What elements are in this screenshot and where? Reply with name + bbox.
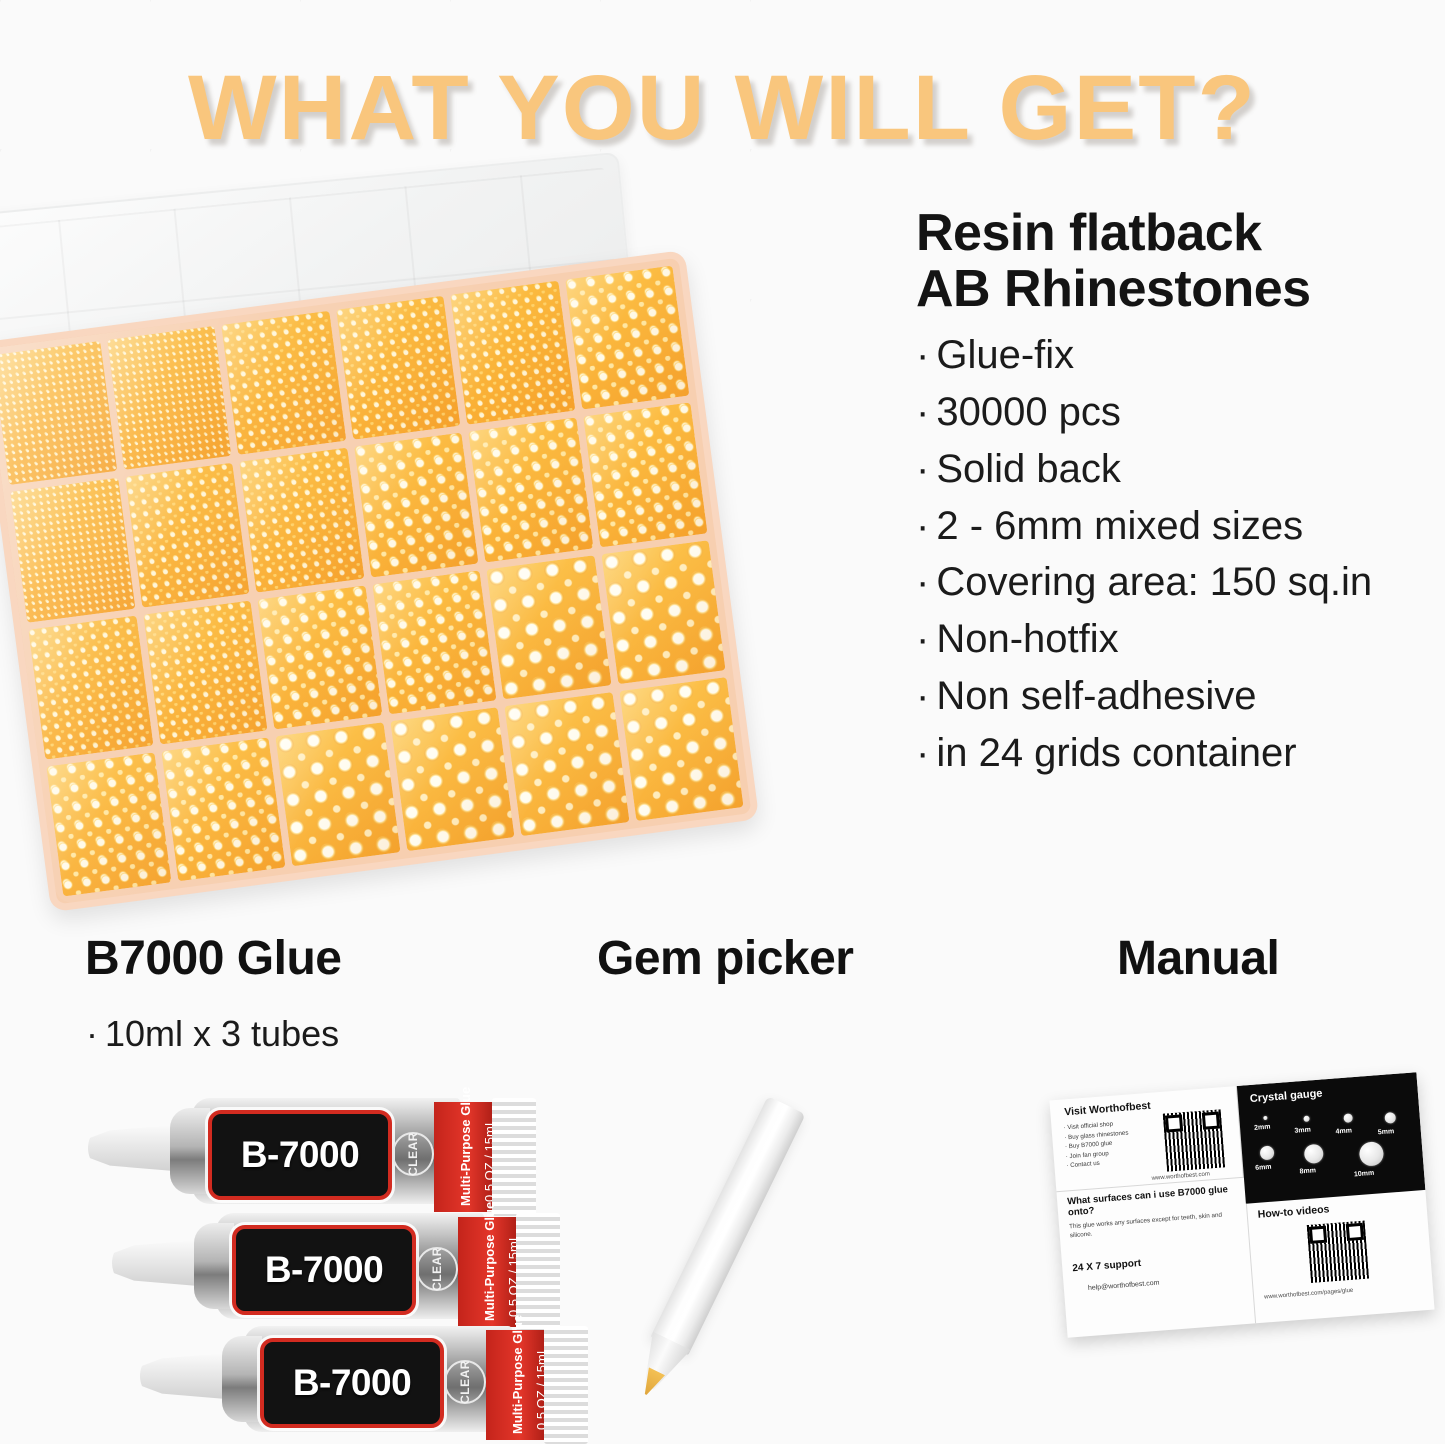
tube-clear-badge: CLEAR xyxy=(444,1360,486,1404)
list-item: ·Covering area: 150 sq.in xyxy=(916,554,1436,611)
bullet-marker: · xyxy=(916,611,929,668)
compartment xyxy=(583,403,708,547)
tube-crimp xyxy=(516,1213,560,1331)
support-title: 24 X 7 support xyxy=(1072,1258,1142,1274)
compartment xyxy=(468,418,593,562)
tube-body: B-7000 CLEAR Multi-Purpose Glue 0.5 OZ /… xyxy=(216,1213,484,1319)
bullet-marker: · xyxy=(916,441,929,498)
glue-tube: B-7000 CLEAR Multi-Purpose Glue 0.5 OZ /… xyxy=(140,1320,540,1438)
product-feature-list: ·Glue-fix ·30000 pcs ·Solid back ·2 - 6m… xyxy=(916,327,1436,781)
tube-crimp xyxy=(492,1098,536,1216)
compartment xyxy=(372,570,497,714)
list-item-label: Non-hotfix xyxy=(936,617,1118,661)
tube-red-strip: Multi-Purpose Glue 0.5 OZ / 15mL xyxy=(486,1330,548,1440)
compartment xyxy=(239,448,364,592)
tube-clear-badge: CLEAR xyxy=(392,1132,434,1176)
product-heading-line1: Resin flatback xyxy=(916,204,1262,262)
pencil-barrel xyxy=(650,1096,805,1355)
glue-quantity-label: 10ml x 3 tubes xyxy=(105,1013,339,1054)
visit-item-label: Join fan group xyxy=(1069,1150,1109,1160)
compartment xyxy=(619,677,744,821)
gauge-label-8mm: 8mm xyxy=(1299,1167,1316,1175)
product-heading-line2: AB Rhinestones xyxy=(916,260,1311,318)
compartment xyxy=(125,463,250,607)
list-item: ·30000 pcs xyxy=(916,384,1436,441)
gem-5mm xyxy=(1384,1112,1396,1124)
gem-2mm xyxy=(1263,1116,1267,1120)
list-item-label: in 24 grids container xyxy=(936,731,1296,775)
list-item-label: 30000 pcs xyxy=(936,390,1121,434)
gem-picker-image xyxy=(640,1080,940,1410)
crystal-gauge-quadrant: Crystal gauge 2mm 3mm 4mm 5mm 6mm 8mm 10… xyxy=(1237,1072,1426,1203)
compartment xyxy=(450,281,575,425)
list-item: ·2 - 6mm mixed sizes xyxy=(916,498,1436,555)
tube-brand-text: B-7000 xyxy=(293,1362,411,1404)
tube-type-text: Multi-Purpose Glue xyxy=(510,1315,525,1434)
compartment xyxy=(601,540,726,684)
tube-crimp xyxy=(544,1326,588,1444)
compartment xyxy=(275,722,400,866)
howto-url: www.worthofbest.com/pages/glue xyxy=(1264,1288,1354,1301)
gauge-label-10mm: 10mm xyxy=(1354,1170,1375,1179)
glue-tube: B-7000 CLEAR Multi-Purpose Glue 0.5 OZ /… xyxy=(112,1207,512,1325)
tube-body: B-7000 CLEAR Multi-Purpose Glue 0.5 OZ /… xyxy=(192,1098,460,1204)
tube-type-text: Multi-Purpose Glue xyxy=(458,1087,473,1206)
compartment xyxy=(390,707,515,851)
gauge-title: Crystal gauge xyxy=(1249,1088,1322,1106)
tube-brand-label: B-7000 xyxy=(260,1338,444,1428)
bullet-marker: · xyxy=(916,554,929,611)
page-title: WHAT YOU WILL GET? xyxy=(0,62,1445,154)
gauge-label-6mm: 6mm xyxy=(1255,1164,1272,1172)
glue-quantity-line: ·10ml x 3 tubes xyxy=(86,1013,339,1055)
manual-visit-quadrant: Visit Worthofbest · Visit official shop … xyxy=(1049,1086,1244,1192)
gem-4mm xyxy=(1343,1113,1353,1123)
list-item: ·Non self-adhesive xyxy=(916,668,1436,725)
bullet-marker: · xyxy=(916,384,929,441)
compartment xyxy=(107,326,232,470)
visit-item-label: Contact us xyxy=(1070,1160,1100,1169)
tube-clear-text: CLEAR xyxy=(458,1360,472,1404)
compartment xyxy=(486,555,611,699)
compartment xyxy=(221,311,346,455)
gem-3mm xyxy=(1303,1116,1309,1122)
gem-6mm xyxy=(1260,1145,1275,1160)
product-heading: Resin flatback AB Rhinestones xyxy=(916,206,1436,317)
compartment xyxy=(354,433,479,577)
tube-brand-label: B-7000 xyxy=(232,1225,416,1315)
manual-card: Visit Worthofbest · Visit official shop … xyxy=(1049,1072,1434,1338)
support-email: help@worthofbest.com xyxy=(1088,1280,1160,1292)
manual-howto-quadrant: How-to videos www.worthofbest.com/pages/… xyxy=(1246,1190,1435,1323)
manual-faq-quadrant: What surfaces can i use B7000 glue onto?… xyxy=(1056,1178,1255,1338)
gauge-label-2mm: 2mm xyxy=(1254,1124,1271,1132)
list-item: ·Solid back xyxy=(916,441,1436,498)
compartment xyxy=(46,752,171,896)
compartment xyxy=(504,692,629,836)
list-item-label: Glue-fix xyxy=(936,333,1074,377)
compartment xyxy=(257,585,382,729)
visit-title: Visit Worthofbest xyxy=(1064,1100,1151,1119)
compartment xyxy=(28,615,153,759)
gem-8mm xyxy=(1304,1144,1324,1164)
visit-qr-code[interactable] xyxy=(1163,1109,1225,1171)
tube-clear-text: CLEAR xyxy=(430,1247,444,1291)
list-item-label: Non self-adhesive xyxy=(936,674,1256,718)
gem-10mm xyxy=(1359,1141,1385,1167)
compartment xyxy=(161,737,286,881)
bullet-marker: · xyxy=(916,668,929,725)
compartment xyxy=(0,341,117,485)
gem-picker-pencil xyxy=(636,1096,805,1384)
section-heading-gem-picker: Gem picker xyxy=(597,931,853,986)
tube-brand-text: B-7000 xyxy=(241,1134,359,1176)
gauge-label-3mm: 3mm xyxy=(1294,1127,1311,1135)
howto-title: How-to videos xyxy=(1257,1203,1329,1220)
compartment xyxy=(565,266,690,410)
list-item-label: 2 - 6mm mixed sizes xyxy=(936,504,1303,548)
glue-tube: B-7000 CLEAR Multi-Purpose Glue 0.5 OZ /… xyxy=(88,1092,488,1210)
tube-type-text: Multi-Purpose Glue xyxy=(482,1202,497,1321)
section-heading-glue: B7000 Glue xyxy=(85,931,341,986)
tube-body: B-7000 CLEAR Multi-Purpose Glue 0.5 OZ /… xyxy=(244,1326,512,1432)
list-item-label: Covering area: 150 sq.in xyxy=(936,560,1372,604)
bullet-marker: · xyxy=(916,327,929,384)
list-item-label: Solid back xyxy=(936,447,1121,491)
tube-clear-badge: CLEAR xyxy=(416,1247,458,1291)
compartment xyxy=(10,478,135,622)
gauge-label-4mm: 4mm xyxy=(1335,1127,1352,1135)
gauge-label-5mm: 5mm xyxy=(1378,1128,1395,1136)
tube-brand-label: B-7000 xyxy=(208,1110,392,1200)
section-heading-manual: Manual xyxy=(1117,931,1279,986)
compartment-grid xyxy=(0,266,744,897)
list-item: ·Glue-fix xyxy=(916,327,1436,384)
compartment xyxy=(336,296,461,440)
tube-brand-text: B-7000 xyxy=(265,1249,383,1291)
tube-red-strip: Multi-Purpose Glue 0.5 OZ / 15mL xyxy=(434,1102,496,1212)
compartment xyxy=(143,600,268,744)
list-item: ·Non-hotfix xyxy=(916,611,1436,668)
case-body xyxy=(0,250,759,912)
rhinestone-case-image xyxy=(0,175,770,915)
tube-red-strip: Multi-Purpose Glue 0.5 OZ / 15mL xyxy=(458,1217,520,1327)
bullet-marker: · xyxy=(916,498,929,555)
bullet-marker: · xyxy=(916,725,929,782)
tube-clear-text: CLEAR xyxy=(406,1132,420,1176)
howto-qr-code[interactable] xyxy=(1307,1221,1369,1283)
bullet-marker: · xyxy=(86,1013,98,1054)
list-item: ·in 24 grids container xyxy=(916,725,1436,782)
product-info: Resin flatback AB Rhinestones ·Glue-fix … xyxy=(916,206,1436,782)
